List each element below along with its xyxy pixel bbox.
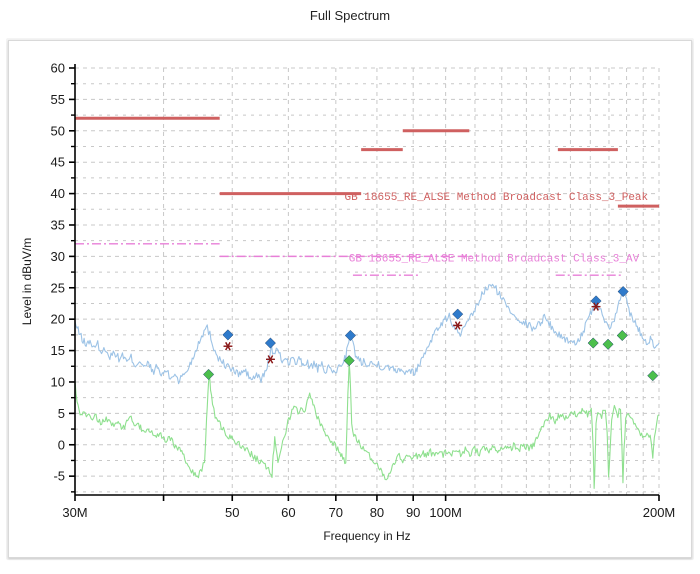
marker-average[interactable]: [588, 338, 598, 348]
x-tick-label: 90: [406, 505, 420, 520]
marker-peak[interactable]: [452, 309, 462, 319]
marker-peak[interactable]: [591, 296, 601, 306]
trace-peak: [75, 284, 659, 383]
x-tick-label: 60: [281, 505, 295, 520]
limit-line-label: GB 18655_RE_ALSE Method Broadcast Class_…: [344, 192, 648, 204]
y-tick-label: -5: [53, 469, 65, 484]
marker-average[interactable]: [617, 330, 627, 340]
x-tick-label: 70: [329, 505, 343, 520]
y-tick-label: 15: [51, 343, 65, 358]
y-tick-label: 10: [51, 374, 65, 389]
marker-average[interactable]: [203, 369, 213, 379]
chart-canvas: GB 18655_RE_ALSE Method Broadcast Class_…: [0, 0, 700, 574]
x-tick-label: 200M: [643, 505, 676, 520]
marker-delta[interactable]: [224, 342, 233, 350]
y-tick-label: 20: [51, 312, 65, 327]
spectrum-chart: Full Spectrum GB 18655_RE_ALSE Method Br…: [0, 0, 700, 574]
limit-line-label: GB 18655_RE_ALSE Method Broadcast Class_…: [349, 253, 640, 265]
x-axis-title: Frequency in Hz: [323, 529, 410, 543]
x-tick-label: 30M: [62, 505, 87, 520]
trace-average: [75, 362, 659, 489]
marker-average[interactable]: [603, 339, 613, 349]
y-tick-label: 5: [58, 406, 65, 421]
y-tick-label: 35: [51, 217, 65, 232]
y-tick-label: 25: [51, 280, 65, 295]
y-tick-label: 45: [51, 155, 65, 170]
marker-peak[interactable]: [223, 330, 233, 340]
y-tick-label: 60: [51, 61, 65, 76]
marker-peak[interactable]: [345, 330, 355, 340]
y-tick-label: 50: [51, 123, 65, 138]
gridlines: [75, 68, 659, 495]
marker-average[interactable]: [648, 370, 658, 380]
y-tick-label: 0: [58, 437, 65, 452]
x-tick-label: 100M: [429, 505, 462, 520]
x-tick-label: 80: [370, 505, 384, 520]
y-tick-label: 55: [51, 92, 65, 107]
y-tick-label: 40: [51, 186, 65, 201]
y-axis-title: Level in dBuV/m: [20, 238, 34, 325]
marker-peak[interactable]: [265, 338, 275, 348]
x-tick-label: 50: [225, 505, 239, 520]
y-tick-label: 30: [51, 249, 65, 264]
